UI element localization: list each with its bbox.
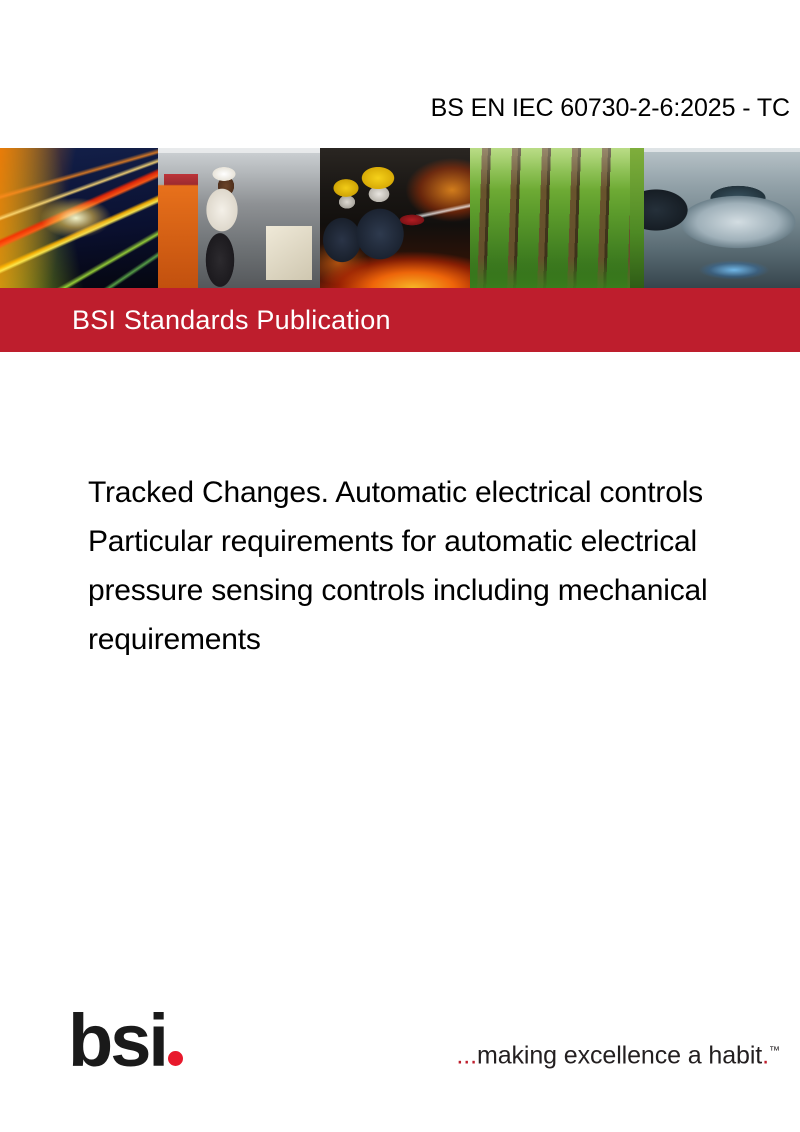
banner-label: BSI Standards Publication: [72, 304, 391, 336]
page-title: Tracked Changes. Automatic electrical co…: [88, 468, 788, 664]
title-line-1: Tracked Changes. Automatic electrical co…: [88, 468, 788, 517]
tagline-ellipsis: ...: [456, 1041, 477, 1069]
document-reference: BS EN IEC 60730-2-6:2025 - TC: [431, 93, 790, 123]
tagline-period: .: [762, 1041, 769, 1069]
bsi-logo-dot-icon: [168, 1051, 183, 1066]
cover-photo-warehouse-worker: [158, 148, 320, 288]
bsi-tagline: ...making excellence a habit.™: [456, 1035, 780, 1071]
cover-photo-car-production-line: [630, 148, 800, 288]
bsi-logo: bsi: [68, 1004, 198, 1078]
cover-photo-firefighters: [320, 148, 470, 288]
document-cover-page: BS EN IEC 60730-2-6:2025 - TC BSI Standa…: [0, 0, 800, 1132]
title-line-3: pressure sensing controls including mech…: [88, 566, 788, 615]
trademark-icon: ™: [769, 1045, 780, 1057]
title-line-4: requirements: [88, 615, 788, 664]
cover-image-strip: [0, 148, 800, 288]
cover-photo-night-light-trails: [0, 148, 158, 288]
bsi-logo-wordmark: bsi: [68, 999, 166, 1082]
tagline-text: making excellence a habit: [477, 1041, 762, 1069]
title-line-2: Particular requirements for automatic el…: [88, 517, 788, 566]
standards-publication-banner: BSI Standards Publication: [0, 288, 800, 352]
cover-photo-forest: [470, 148, 630, 288]
